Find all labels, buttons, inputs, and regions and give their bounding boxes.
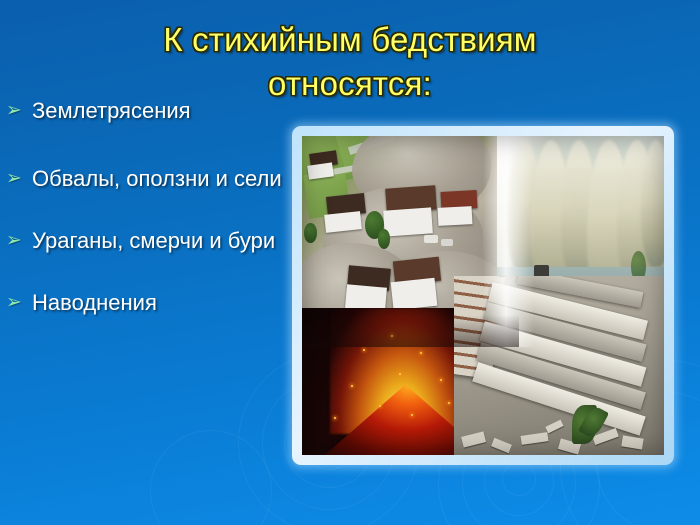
- list-item: ➢ Наводнения: [6, 288, 298, 318]
- title-line-2: относятся:: [60, 62, 640, 106]
- disaster-photo-frame: [292, 126, 674, 465]
- list-item: ➢ Обвалы, оползни и сели: [6, 164, 298, 194]
- list-item: ➢ Ураганы, смерчи и бури: [6, 226, 298, 256]
- slide-title: К стихийным бедствиям относятся:: [60, 18, 640, 106]
- disaster-photo-collage: [302, 136, 664, 455]
- scene-collapsed-building: [454, 276, 664, 455]
- arrow-bullet-icon: ➢: [6, 96, 32, 126]
- title-line-1: К стихийным бедствиям: [60, 18, 640, 62]
- arrow-bullet-icon: ➢: [6, 226, 32, 256]
- list-item-label: Наводнения: [32, 288, 298, 318]
- arrow-bullet-icon: ➢: [6, 164, 32, 194]
- bullet-list: ➢ Землетрясения ➢ Обвалы, оползни и сели…: [6, 96, 298, 318]
- list-item-label: Обвалы, оползни и сели: [32, 164, 298, 194]
- list-item-label: Ураганы, смерчи и бури: [32, 226, 298, 256]
- arrow-bullet-icon: ➢: [6, 288, 32, 318]
- presentation-slide: К стихийным бедствиям относятся: ➢ Земле…: [0, 0, 700, 525]
